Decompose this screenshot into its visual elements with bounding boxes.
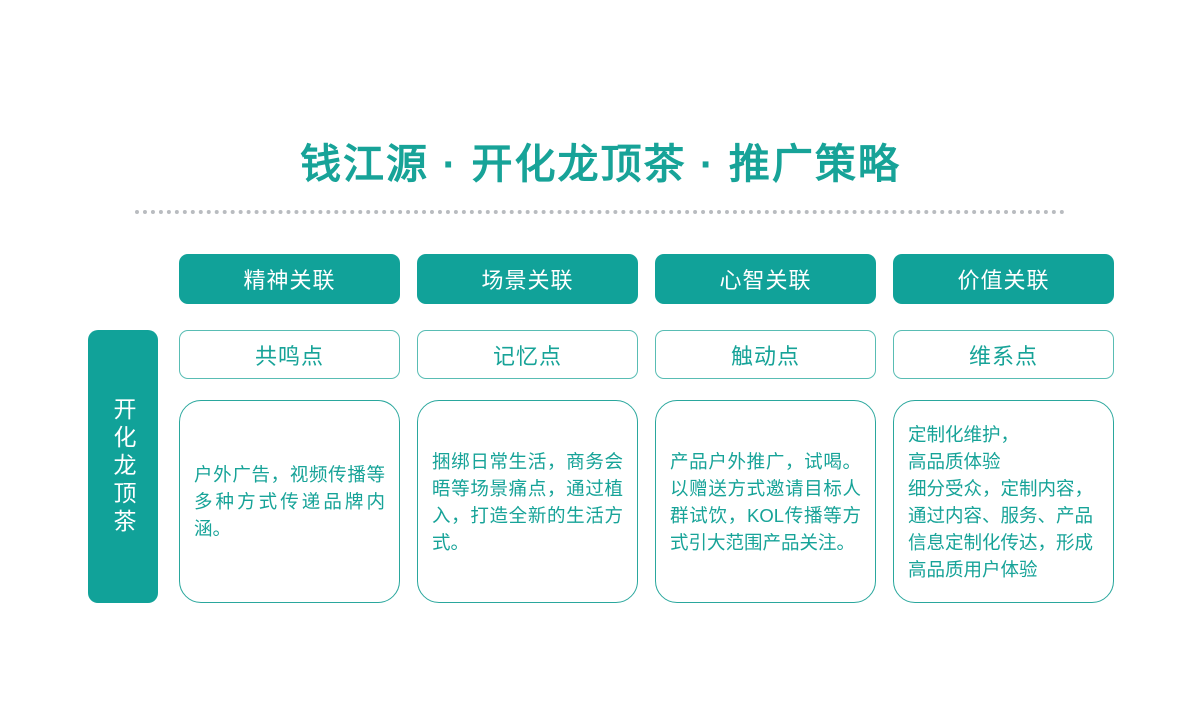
detail-text-retention: 定制化维护， 高品质体验 细分受众，定制内容，通过内容、服务、产品信息定制化传达… [908, 421, 1099, 583]
detail-box-memory[interactable]: 捆绑日常生活，商务会晤等场景痛点，通过植入，打造全新的生活方式。 [417, 400, 638, 603]
category-box-spiritual[interactable]: 精神关联 [179, 254, 400, 304]
detail-text-resonance: 户外广告，视频传播等多种方式传递品牌内涵。 [194, 461, 385, 542]
detail-box-resonance[interactable]: 户外广告，视频传播等多种方式传递品牌内涵。 [179, 400, 400, 603]
strategy-column-4: 价值关联 维系点 定制化维护， 高品质体验 细分受众，定制内容，通过内容、服务、… [893, 254, 1114, 604]
point-box-trigger[interactable]: 触动点 [655, 330, 876, 379]
detail-box-trigger[interactable]: 产品户外推广，试喝。以赠送方式邀请目标人群试饮，KOL传播等方式引大范围产品关注… [655, 400, 876, 603]
detail-box-retention[interactable]: 定制化维护， 高品质体验 细分受众，定制内容，通过内容、服务、产品信息定制化传达… [893, 400, 1114, 603]
side-label-text: 开化龙顶茶 [105, 397, 141, 537]
point-box-retention[interactable]: 维系点 [893, 330, 1114, 379]
strategy-column-3: 心智关联 触动点 产品户外推广，试喝。以赠送方式邀请目标人群试饮，KOL传播等方… [655, 254, 876, 604]
dotted-divider [135, 210, 1065, 214]
strategy-column-1: 精神关联 共鸣点 户外广告，视频传播等多种方式传递品牌内涵。 [179, 254, 400, 604]
strategy-columns: 精神关联 共鸣点 户外广告，视频传播等多种方式传递品牌内涵。 场景关联 记忆点 … [179, 254, 1114, 604]
page-title: 钱江源 · 开化龙顶茶 · 推广策略 [0, 138, 1201, 190]
detail-text-trigger: 产品户外推广，试喝。以赠送方式邀请目标人群试饮，KOL传播等方式引大范围产品关注… [670, 448, 861, 556]
side-label-brand: 开化龙顶茶 [88, 330, 158, 603]
category-box-value[interactable]: 价值关联 [893, 254, 1114, 304]
point-box-resonance[interactable]: 共鸣点 [179, 330, 400, 379]
category-box-scenario[interactable]: 场景关联 [417, 254, 638, 304]
detail-text-memory: 捆绑日常生活，商务会晤等场景痛点，通过植入，打造全新的生活方式。 [432, 448, 623, 556]
strategy-column-2: 场景关联 记忆点 捆绑日常生活，商务会晤等场景痛点，通过植入，打造全新的生活方式… [417, 254, 638, 604]
point-box-memory[interactable]: 记忆点 [417, 330, 638, 379]
category-box-mind[interactable]: 心智关联 [655, 254, 876, 304]
